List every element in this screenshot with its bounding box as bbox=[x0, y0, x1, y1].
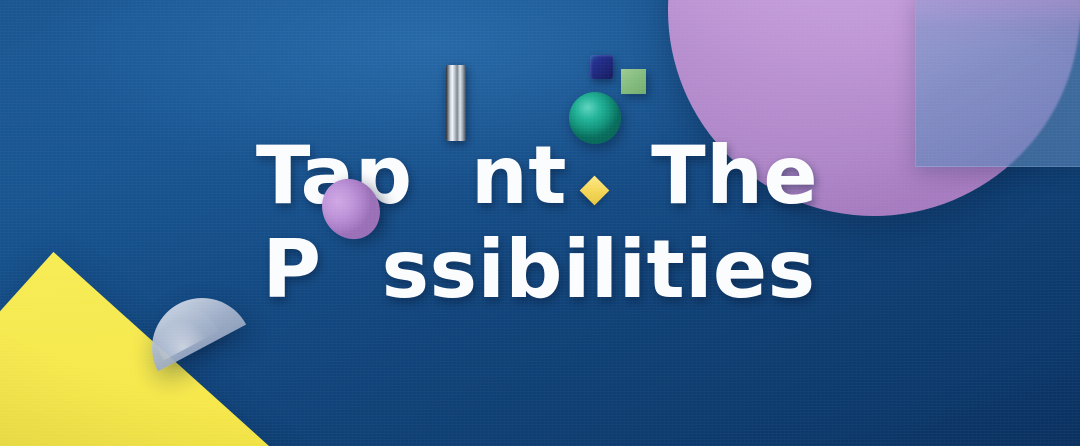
hero-banner: Tap nt The P ssibilities bbox=[0, 0, 1080, 446]
background-vignette bbox=[0, 0, 1080, 446]
